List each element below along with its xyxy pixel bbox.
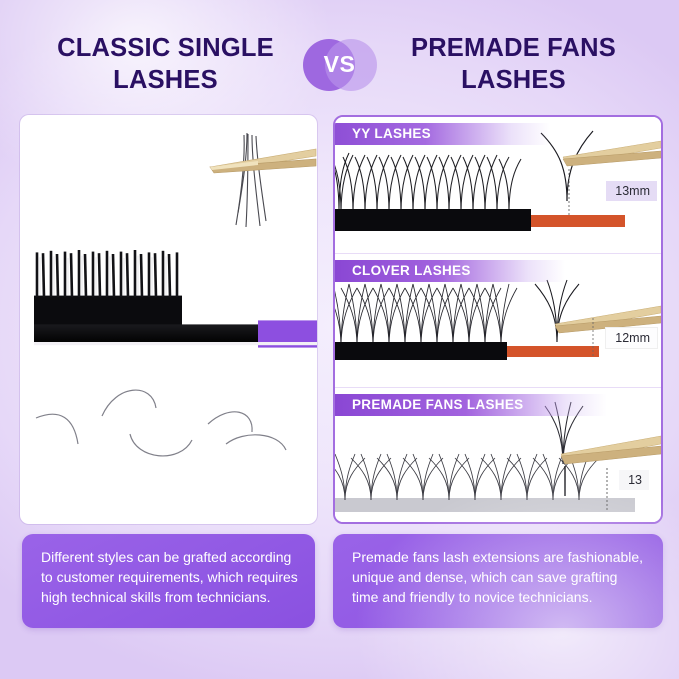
premade-fans-lashes-label: PREMADE FANS LASHES <box>335 394 607 416</box>
dense-black-lash-strip-icon <box>34 246 317 374</box>
yy-lashes-measurement: 13mm <box>606 181 657 201</box>
clover-lashes-measurement: 12mm <box>606 328 657 348</box>
classic-single-lashes-panel <box>20 115 317 524</box>
right-panel-title: PREMADE FANS LASHES <box>377 33 645 96</box>
section-clover-lashes: CLOVER LASHES 12mm <box>335 253 661 387</box>
left-caption: Different styles can be grafted accordin… <box>22 534 315 628</box>
premade-fans-lashes-panel: YY LASHES 13mm <box>333 115 663 524</box>
section-premade-fans-lashes: PREMADE FANS LASHES 13 <box>335 387 661 522</box>
yy-lashes-label: YY LASHES <box>335 123 550 145</box>
individual-curved-lashes-icon <box>30 360 310 500</box>
header: CLASSIC SINGLE LASHES VS PREMADE FANS LA… <box>0 24 679 106</box>
vs-badge: VS <box>303 37 377 93</box>
clover-lashes-label: CLOVER LASHES <box>335 260 565 282</box>
tweezer-holding-single-lashes-icon <box>198 129 317 241</box>
left-panel-title: CLASSIC SINGLE LASHES <box>35 33 303 96</box>
right-caption: Premade fans lash extensions are fashion… <box>333 534 663 628</box>
vs-label: VS <box>324 53 356 77</box>
comparison-infographic: CLASSIC SINGLE LASHES VS PREMADE FANS LA… <box>0 0 679 679</box>
premade-fans-lashes-measurement: 13 <box>619 470 649 490</box>
section-yy-lashes: YY LASHES 13mm <box>335 117 661 253</box>
